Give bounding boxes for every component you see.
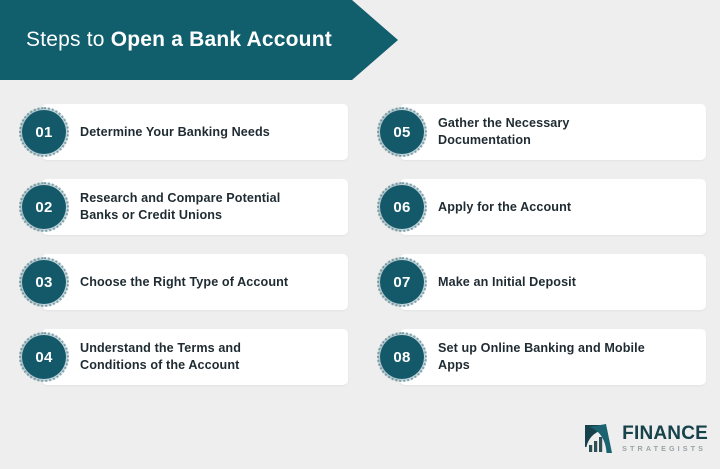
infographic-root: Steps to Open a Bank Account 01 Determin… <box>0 0 720 469</box>
step-label-line: Conditions of the Account <box>80 357 241 374</box>
step-item: 05 Gather the Necessary Documentation <box>372 104 706 160</box>
step-label-line: Set up Online Banking and Mobile <box>438 340 645 357</box>
step-item: 07 Make an Initial Deposit <box>372 254 706 310</box>
brand-logo-text: FINANCE STRATEGISTS <box>622 424 708 452</box>
step-label: Understand the Terms and Conditions of t… <box>80 340 251 374</box>
steps-column-right: 05 Gather the Necessary Documentation 06… <box>372 104 706 385</box>
brand-name: FINANCE <box>622 424 708 443</box>
step-item: 03 Choose the Right Type of Account <box>14 254 348 310</box>
step-number-badge: 08 <box>380 335 424 379</box>
step-label-line: Research and Compare Potential <box>80 190 280 207</box>
step-label-line: Documentation <box>438 132 570 149</box>
page-title-prefix: Steps to <box>26 28 111 51</box>
step-label-line: Make an Initial Deposit <box>438 274 576 291</box>
step-item: 02 Research and Compare Potential Banks … <box>14 179 348 235</box>
step-number-badge: 07 <box>380 260 424 304</box>
brand-logo: FINANCE STRATEGISTS <box>583 423 708 453</box>
step-label: Research and Compare Potential Banks or … <box>80 190 290 224</box>
step-label: Apply for the Account <box>438 199 581 216</box>
step-label-line: Banks or Credit Unions <box>80 207 280 224</box>
step-label: Determine Your Banking Needs <box>80 124 280 141</box>
steps-column-left: 01 Determine Your Banking Needs 02 Resea… <box>14 104 348 385</box>
step-label: Choose the Right Type of Account <box>80 274 298 291</box>
step-label-line: Apps <box>438 357 645 374</box>
step-number-badge: 06 <box>380 185 424 229</box>
step-label-line: Gather the Necessary <box>438 115 570 132</box>
bar-chart-swoosh-icon <box>583 423 617 453</box>
step-label: Set up Online Banking and Mobile Apps <box>438 340 655 374</box>
step-item: 04 Understand the Terms and Conditions o… <box>14 329 348 385</box>
step-number-badge: 03 <box>22 260 66 304</box>
step-label-line: Choose the Right Type of Account <box>80 274 288 291</box>
steps-columns: 01 Determine Your Banking Needs 02 Resea… <box>14 104 706 385</box>
step-number-badge: 05 <box>380 110 424 154</box>
step-label-line: Apply for the Account <box>438 199 571 216</box>
step-label: Make an Initial Deposit <box>438 274 586 291</box>
step-label: Gather the Necessary Documentation <box>438 115 580 149</box>
page-title: Steps to Open a Bank Account <box>0 27 332 53</box>
step-number-badge: 01 <box>22 110 66 154</box>
step-label-line: Determine Your Banking Needs <box>80 124 270 141</box>
steps-board: 01 Determine Your Banking Needs 02 Resea… <box>0 80 720 469</box>
step-label-line: Understand the Terms and <box>80 340 241 357</box>
step-number-badge: 02 <box>22 185 66 229</box>
step-number-badge: 04 <box>22 335 66 379</box>
header-banner: Steps to Open a Bank Account <box>0 0 398 80</box>
step-item: 08 Set up Online Banking and Mobile Apps <box>372 329 706 385</box>
step-item: 06 Apply for the Account <box>372 179 706 235</box>
page-title-emphasis: Open a Bank Account <box>111 28 332 51</box>
step-item: 01 Determine Your Banking Needs <box>14 104 348 160</box>
brand-tagline: STRATEGISTS <box>622 445 708 452</box>
